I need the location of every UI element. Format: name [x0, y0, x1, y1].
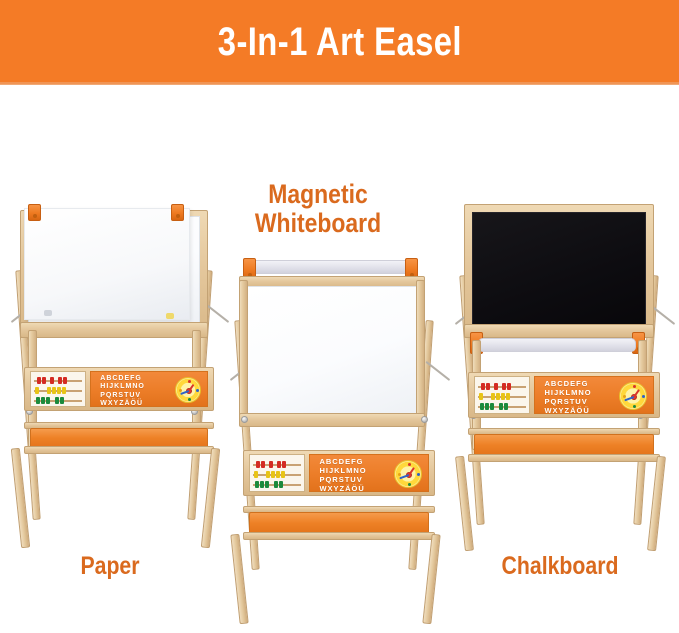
abacus-bead [260, 481, 264, 488]
abacus-bead [279, 481, 283, 488]
clock-toy[interactable] [394, 460, 422, 488]
abacus-bead [496, 393, 500, 400]
product-image-canvas: 3-In-1 Art Easel Magnetic Whiteboard [0, 0, 679, 633]
page-title: 3-In-1 Art Easel [217, 20, 461, 65]
paper-clip-right [171, 204, 184, 221]
paper-roll [251, 260, 411, 274]
abacus[interactable] [30, 371, 86, 407]
abacus-bead [57, 387, 61, 394]
abacus-bead [256, 461, 260, 468]
abacus-bead [47, 387, 51, 394]
abacus-bead [55, 397, 59, 404]
abacus-bead [281, 471, 285, 478]
alphabet-text: ABCDEFG HIJKLMNO PQRSTUV WXYZÄÖÜ [319, 458, 366, 492]
magnet-bottom-left [44, 310, 52, 316]
clock-numeral-dot [196, 389, 199, 392]
easel-leg-front-left [11, 448, 30, 548]
easel-paper: ABCDEFG HIJKLMNO PQRSTUV WXYZÄÖÜ [6, 190, 231, 550]
board-rail-left [239, 280, 248, 422]
board-surface-chalkboard [472, 212, 646, 326]
tray-lip [243, 532, 435, 540]
abacus-bead [41, 397, 45, 404]
abacus-bead [261, 461, 265, 468]
abacus-bead [62, 387, 66, 394]
abacus[interactable] [474, 376, 530, 414]
abacus-bead [271, 471, 275, 478]
abacus[interactable] [249, 454, 305, 492]
easel-leg-front-right [201, 448, 220, 548]
paper-sheet [24, 208, 190, 320]
abacus-bead [254, 471, 258, 478]
abacus-bead [36, 397, 40, 404]
caption-line-2: Whiteboard [216, 209, 420, 238]
abacus-bead [46, 397, 50, 404]
clock-numeral-dot [642, 395, 645, 398]
abacus-bead [266, 471, 270, 478]
abacus-bead [265, 481, 269, 488]
abacus-bead [491, 393, 495, 400]
abacus-bead [52, 387, 56, 394]
clock-numeral-dot [188, 398, 191, 401]
clock-numeral-dot [417, 473, 420, 476]
abacus-bead [274, 481, 278, 488]
abacus-bead [255, 481, 259, 488]
abacus-bead [486, 383, 490, 390]
alphabet-board: ABCDEFG HIJKLMNO PQRSTUV WXYZÄÖÜ [309, 454, 429, 492]
easel-leg-front-left [455, 456, 474, 551]
clock-numeral-dot [179, 389, 182, 392]
abacus-bead [60, 397, 64, 404]
paper-clip-left [28, 204, 41, 221]
caption-chalkboard: Chalkboard [467, 552, 654, 581]
abacus-bead [276, 471, 280, 478]
abacus-bead [269, 461, 273, 468]
alphabet-board: ABCDEFG HIJKLMNO PQRSTUV WXYZÄÖÜ [90, 371, 208, 407]
clock-numeral-dot [188, 380, 191, 383]
abacus-bead [499, 403, 503, 410]
clock-toy[interactable] [619, 382, 647, 410]
magnet-bottom-right [166, 313, 174, 319]
tray-lip [468, 454, 660, 462]
abacus-bead [502, 383, 506, 390]
board-bottom-ledge [464, 324, 654, 338]
abacus-bead [42, 377, 46, 384]
abacus-bead [506, 393, 510, 400]
abacus-bead [479, 393, 483, 400]
abacus-bead [481, 383, 485, 390]
abacus-bead [63, 377, 67, 384]
abacus-bead [480, 403, 484, 410]
header-banner: 3-In-1 Art Easel [0, 0, 679, 84]
clock-numeral-dot [408, 463, 411, 466]
abacus-bead [507, 383, 511, 390]
abacus-bead [277, 461, 281, 468]
clock-numeral-dot [398, 473, 401, 476]
abacus-bead [282, 461, 286, 468]
abacus-bead [485, 403, 489, 410]
caption-paper: Paper [42, 552, 178, 581]
abacus-bead [35, 387, 39, 394]
board-surface-whiteboard [247, 286, 417, 416]
abacus-bead [58, 377, 62, 384]
height-knob-right[interactable] [421, 416, 428, 423]
abacus-bead [504, 403, 508, 410]
tray-lip [24, 446, 214, 454]
board-rail-right [416, 280, 425, 422]
alphabet-text: ABCDEFG HIJKLMNO PQRSTUV WXYZÄÖÜ [544, 380, 591, 414]
caption-magnetic-whiteboard: Magnetic Whiteboard [216, 180, 420, 238]
abacus-bead [494, 383, 498, 390]
height-knob-left[interactable] [241, 416, 248, 423]
alphabet-board: ABCDEFG HIJKLMNO PQRSTUV WXYZÄÖÜ [534, 376, 654, 414]
abacus-bead [37, 377, 41, 384]
abacus-bead [490, 403, 494, 410]
abacus-bead [501, 393, 505, 400]
easel-leg-front-left [230, 534, 248, 624]
paper-roll [478, 338, 636, 352]
clock-numeral-dot [623, 395, 626, 398]
easel-magnetic-whiteboard: ABCDEFG HIJKLMNO PQRSTUV WXYZÄÖÜ [225, 250, 450, 610]
board-bottom-ledge [239, 413, 425, 427]
clock-numeral-dot [633, 385, 636, 388]
banner-bottom-edge [0, 82, 679, 85]
easel-chalkboard: ABCDEFG HIJKLMNO PQRSTUV WXYZÄÖÜ [450, 190, 675, 550]
clock-numeral-dot [633, 405, 636, 408]
easel-leg-front-right [422, 534, 440, 624]
board-bottom-ledge [20, 322, 208, 338]
abacus-bead [50, 377, 54, 384]
clock-toy[interactable] [175, 377, 201, 403]
caption-line-1: Magnetic [216, 180, 420, 209]
clock-numeral-dot [408, 483, 411, 486]
alphabet-text: ABCDEFG HIJKLMNO PQRSTUV WXYZÄÖÜ [100, 375, 145, 407]
easel-leg-front-right [647, 456, 666, 551]
